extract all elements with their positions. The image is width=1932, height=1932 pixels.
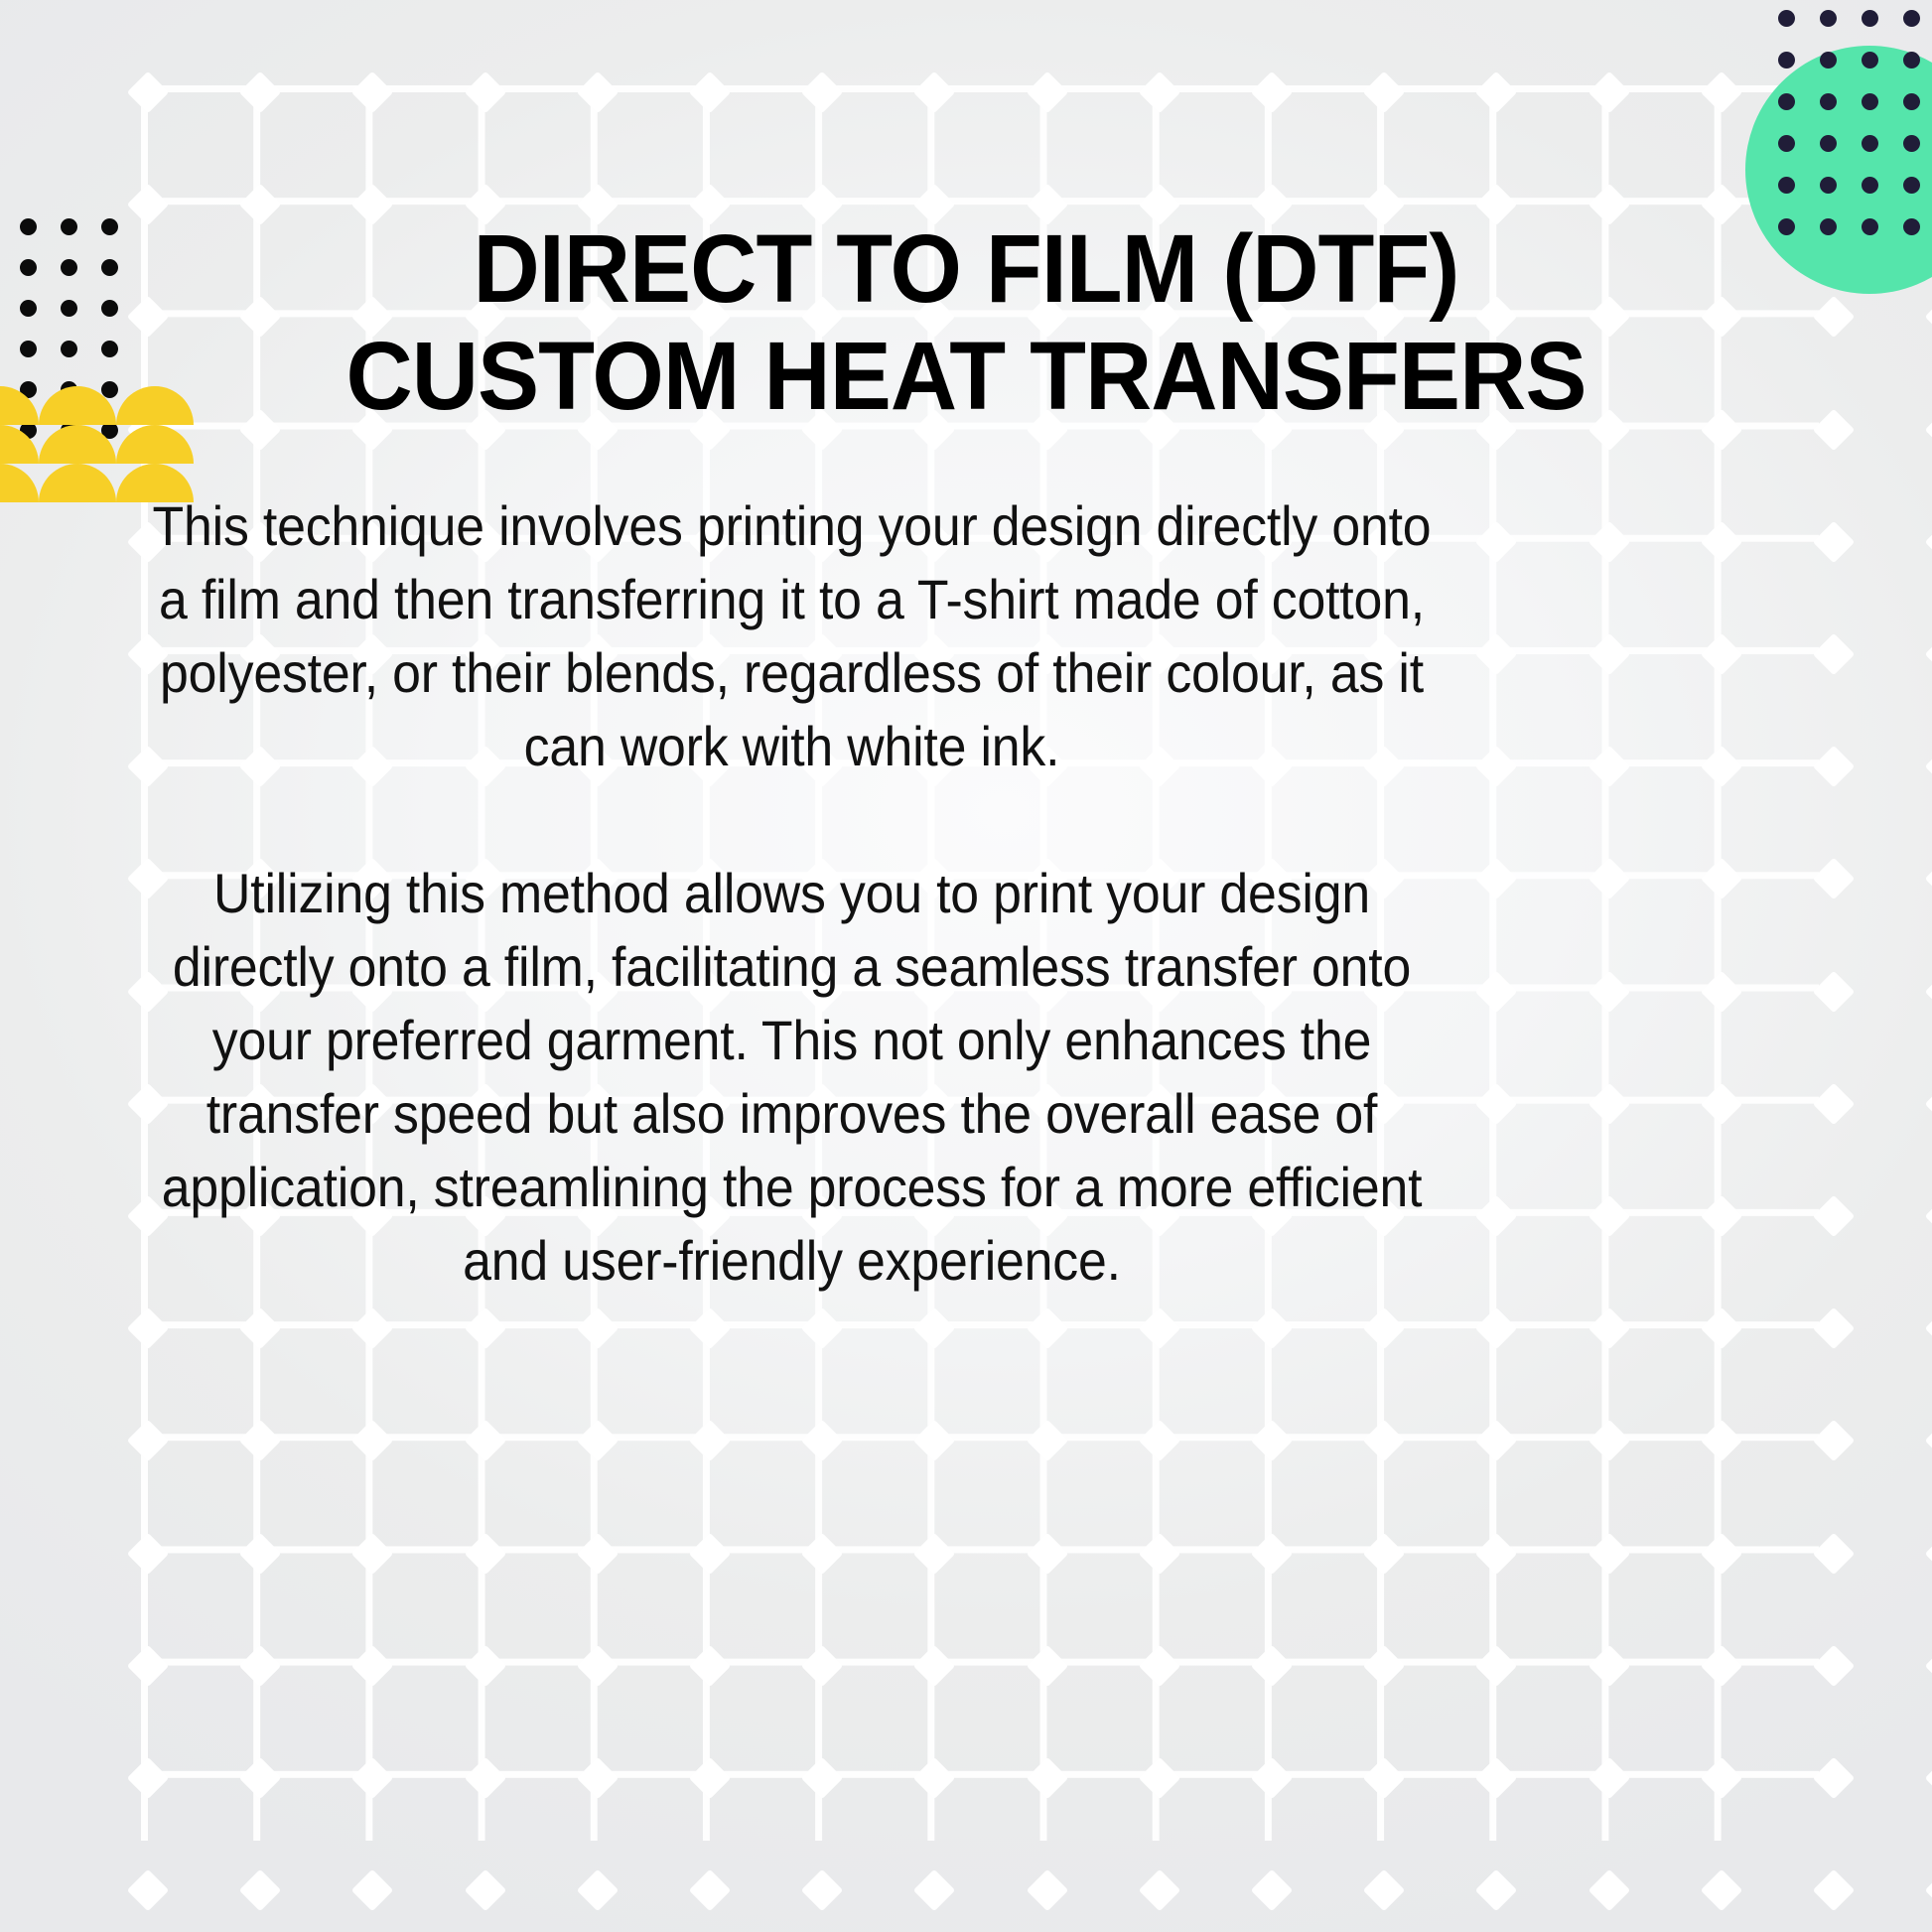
body-paragraph-2: Utilizing this method allows you to prin… [151,857,1432,1298]
page-title-line-1: DIRECT TO FILM (DTF) [270,215,1662,323]
content-area: DIRECT TO FILM (DTF) CUSTOM HEAT TRANSFE… [0,0,1932,1932]
poster-canvas: DIRECT TO FILM (DTF) CUSTOM HEAT TRANSFE… [0,0,1932,1932]
page-title: DIRECT TO FILM (DTF) CUSTOM HEAT TRANSFE… [270,215,1662,430]
body-text-block: This technique involves printing your de… [99,489,1484,1298]
body-paragraph-1: This technique involves printing your de… [151,489,1432,783]
page-title-line-2: CUSTOM HEAT TRANSFERS [270,323,1662,430]
